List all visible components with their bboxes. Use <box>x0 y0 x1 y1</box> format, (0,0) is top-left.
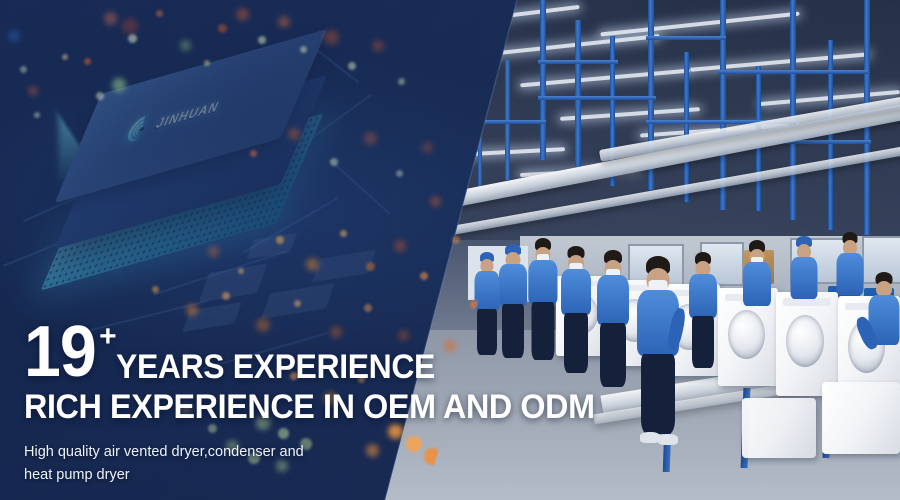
subtext-block: High quality air vented dryer,condenser … <box>24 441 384 486</box>
subtext-line-2: heat pump dryer <box>24 464 384 486</box>
years-number: 19 <box>24 321 96 384</box>
factory-worker <box>790 236 818 336</box>
headline-line-2: RICH EXPERIENCE IN OEM AND ODM <box>24 388 613 427</box>
plus-sign: + <box>99 324 117 350</box>
factory-worker <box>742 240 772 350</box>
factory-worker <box>868 272 900 392</box>
promo-banner: JINHUAN <box>0 0 900 500</box>
headline-copy-block: 19 + YEARS EXPERIENCE RICH EXPERIENCE IN… <box>24 321 644 486</box>
headline-line-1: 19 + YEARS EXPERIENCE <box>24 321 644 384</box>
dryer-unit-flat <box>742 398 816 458</box>
subtext-line-1: High quality air vented dryer,condenser … <box>24 441 384 463</box>
years-experience-label: YEARS EXPERIENCE <box>116 353 435 383</box>
factory-worker <box>688 252 718 372</box>
dryer-unit-flat <box>822 382 900 454</box>
